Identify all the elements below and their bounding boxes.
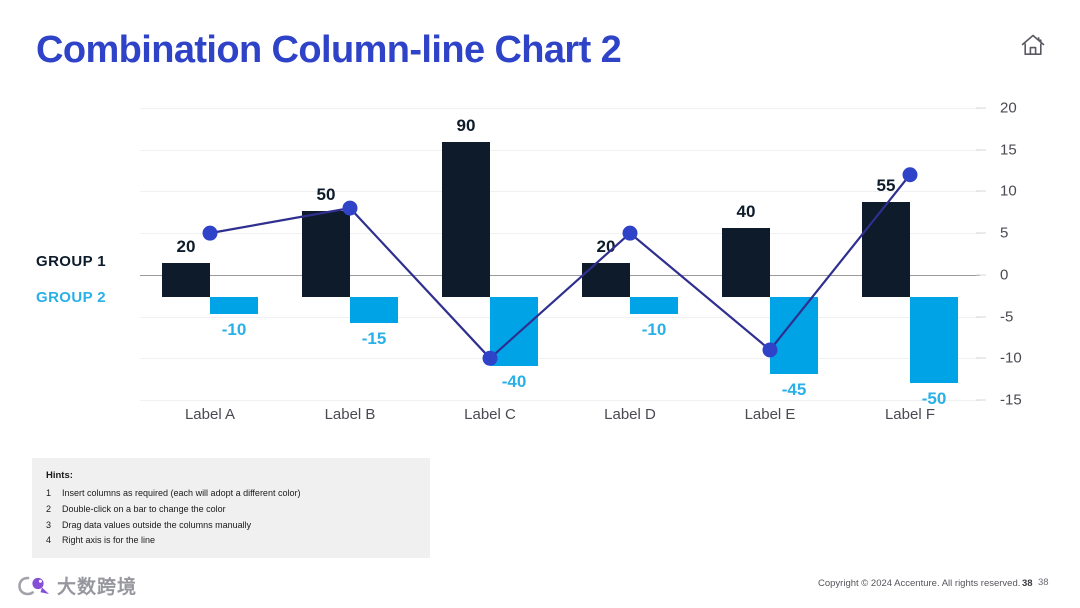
- category-label: Label C: [420, 406, 560, 423]
- bar-group-2[interactable]: [630, 297, 678, 314]
- axis-tick-mark: [976, 233, 986, 234]
- right-axis-tick-label: -5: [1000, 308, 1013, 325]
- bar-group-1[interactable]: [162, 263, 210, 297]
- hint-number: 2: [46, 502, 62, 518]
- watermark-logo-icon: [18, 575, 52, 597]
- bar-group-2[interactable]: [210, 297, 258, 314]
- hint-row: 4Right axis is for the line: [46, 533, 416, 549]
- gridline: [140, 400, 980, 401]
- bar-value-label-group-1: 40: [708, 202, 784, 222]
- right-axis-tick-label: 20: [1000, 100, 1017, 117]
- axis-tick-mark: [976, 108, 986, 109]
- copyright-text: Copyright © 2024 Accenture. All rights r…: [818, 578, 1020, 589]
- bar-group-2[interactable]: [910, 297, 958, 383]
- axis-tick-mark: [976, 358, 986, 359]
- axis-tick-mark: [976, 316, 986, 317]
- bar-value-label-group-1: 90: [428, 116, 504, 136]
- hints-box: Hints: 1Insert columns as required (each…: [32, 458, 430, 558]
- bar-value-label-group-1: 50: [288, 185, 364, 205]
- bar-value-label-group-2: -10: [196, 320, 272, 340]
- axis-tick-mark: [976, 274, 986, 275]
- zero-axis-line: [140, 275, 980, 276]
- gridline: [140, 233, 980, 234]
- bar-value-label-group-2: -40: [476, 372, 552, 392]
- watermark-text: 大数跨境: [57, 572, 137, 599]
- gridline: [140, 150, 980, 151]
- hint-number: 4: [46, 533, 62, 549]
- hint-number: 3: [46, 518, 62, 534]
- category-axis-labels: Label ALabel BLabel CLabel DLabel ELabel…: [140, 406, 980, 430]
- hints-title: Hints:: [46, 470, 416, 481]
- bar-group-1[interactable]: [302, 211, 350, 297]
- axis-tick-mark: [976, 191, 986, 192]
- legend-item-group-2: GROUP 2: [36, 289, 140, 306]
- hint-row: 1Insert columns as required (each will a…: [46, 486, 416, 502]
- category-label: Label B: [280, 406, 420, 423]
- hint-text: Drag data values outside the columns man…: [62, 518, 251, 534]
- bar-group-2[interactable]: [770, 297, 818, 374]
- hint-text: Right axis is for the line: [62, 533, 155, 549]
- page-title: Combination Column-line Chart 2: [36, 29, 621, 72]
- bar-value-label-group-2: -15: [336, 329, 412, 349]
- legend-item-group-1: GROUP 1: [36, 253, 140, 270]
- page-number-alt: 38: [1038, 577, 1049, 588]
- line-series-layer: [140, 108, 980, 400]
- category-label: Label E: [700, 406, 840, 423]
- bar-value-label-group-2: -45: [756, 380, 832, 400]
- axis-tick-mark: [976, 149, 986, 150]
- hint-text: Double-click on a bar to change the colo…: [62, 502, 226, 518]
- right-axis-tick-label: 0: [1000, 266, 1008, 283]
- legend: GROUP 1 GROUP 2: [36, 253, 140, 325]
- right-value-axis: 20151050-5-10-15: [990, 108, 1050, 400]
- hint-text: Insert columns as required (each will ad…: [62, 486, 300, 502]
- gridline: [140, 358, 980, 359]
- category-label: Label A: [140, 406, 280, 423]
- bar-group-2[interactable]: [490, 297, 538, 366]
- right-axis-tick-label: -10: [1000, 350, 1022, 367]
- hint-row: 3Drag data values outside the columns ma…: [46, 518, 416, 534]
- category-label: Label D: [560, 406, 700, 423]
- bar-group-1[interactable]: [442, 142, 490, 297]
- right-axis-tick-label: -15: [1000, 392, 1022, 409]
- bar-value-label-group-1: 20: [148, 237, 224, 257]
- right-axis-tick-label: 10: [1000, 183, 1017, 200]
- watermark: 大数跨境: [18, 572, 137, 599]
- bar-value-label-group-2: -10: [616, 320, 692, 340]
- hint-row: 2Double-click on a bar to change the col…: [46, 502, 416, 518]
- slide-canvas: Combination Column-line Chart 2 GROUP 1 …: [0, 0, 1080, 608]
- gridline: [140, 108, 980, 109]
- page-number: 38: [1022, 578, 1033, 589]
- gridline: [140, 317, 980, 318]
- home-icon[interactable]: [1018, 30, 1048, 60]
- bar-group-1[interactable]: [722, 228, 770, 297]
- category-label: Label F: [840, 406, 980, 423]
- right-axis-tick-label: 15: [1000, 141, 1017, 158]
- hints-list: 1Insert columns as required (each will a…: [46, 486, 416, 549]
- axis-tick-mark: [976, 400, 986, 401]
- bar-value-label-group-1: 20: [568, 237, 644, 257]
- bar-group-1[interactable]: [582, 263, 630, 297]
- right-axis-tick-label: 5: [1000, 225, 1008, 242]
- hint-number: 1: [46, 486, 62, 502]
- chart-plot-area: 20-1050-1590-4020-1040-4555-50: [140, 108, 980, 400]
- bar-group-1[interactable]: [862, 202, 910, 296]
- bar-group-2[interactable]: [350, 297, 398, 323]
- bar-value-label-group-1: 55: [848, 176, 924, 196]
